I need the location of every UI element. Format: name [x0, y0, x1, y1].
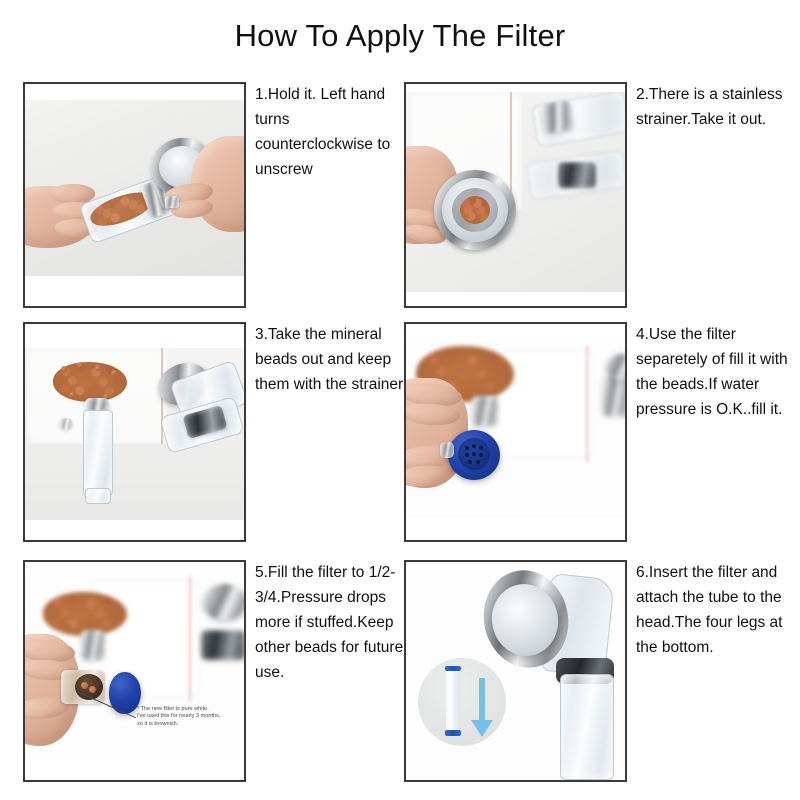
- step-2-photo-frame: [404, 82, 627, 308]
- step-3-photo: [25, 324, 244, 540]
- filter-cartridge-diagram: [446, 668, 460, 734]
- step-5-annotation-note: * The new filter is pure white. I've use…: [137, 706, 241, 728]
- step-4-cell: 4.Use the filter separetely of fill it w…: [404, 322, 777, 542]
- steps-grid: 1.Hold it. Left hand turns counterclockw…: [23, 82, 777, 782]
- steps-row-1: 1.Hold it. Left hand turns counterclockw…: [23, 82, 777, 308]
- step-6-caption: 6.Insert the filter and attach the tube …: [636, 560, 800, 660]
- step-1-cell: 1.Hold it. Left hand turns counterclockw…: [23, 82, 400, 308]
- step-1-caption: 1.Hold it. Left hand turns counterclockw…: [255, 82, 405, 182]
- step-5-photo: * The new filter is pure white. I've use…: [25, 562, 244, 780]
- step-6-photo: [406, 562, 625, 780]
- step-3-caption: 3.Take the mineral beads out and keep th…: [255, 322, 405, 397]
- steps-row-3: * The new filter is pure white. I've use…: [23, 560, 777, 782]
- step-2-cell: 2.There is a stainless strainer.Take it …: [404, 82, 777, 308]
- step-4-photo: [406, 324, 625, 540]
- page-title: How To Apply The Filter: [0, 18, 800, 54]
- step-5-cell: * The new filter is pure white. I've use…: [23, 560, 400, 782]
- step-5-caption: 5.Fill the filter to 1/2-3/4.Pressure dr…: [255, 560, 405, 685]
- step-4-photo-frame: [404, 322, 627, 542]
- down-arrow-icon: [479, 678, 485, 722]
- step-3-cell: 3.Take the mineral beads out and keep th…: [23, 322, 400, 542]
- step-6-cell: 6.Insert the filter and attach the tube …: [404, 560, 777, 782]
- step-6-photo-frame: [404, 560, 627, 782]
- step-1-photo-frame: [23, 82, 246, 308]
- step-2-caption: 2.There is a stainless strainer.Take it …: [636, 82, 800, 132]
- step-3-photo-frame: [23, 322, 246, 542]
- steps-row-2: 3.Take the mineral beads out and keep th…: [23, 322, 777, 542]
- step-1-photo: [25, 84, 244, 306]
- step-5-photo-frame: * The new filter is pure white. I've use…: [23, 560, 246, 782]
- step-4-caption: 4.Use the filter separetely of fill it w…: [636, 322, 800, 422]
- step-2-photo: [406, 84, 625, 306]
